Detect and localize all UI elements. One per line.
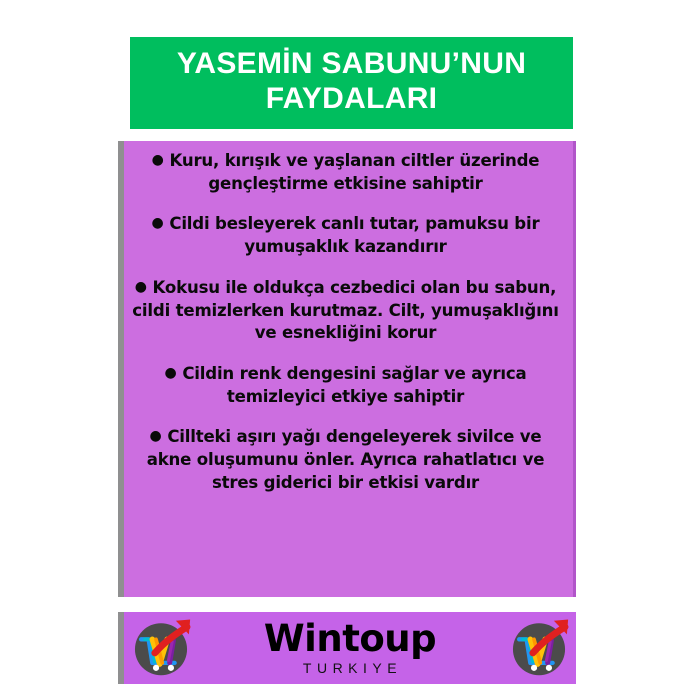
benefit-list-item: ● Cildi besleyerek canlı tutar, pamuksu …: [132, 213, 559, 258]
bullet-icon: ●: [152, 152, 164, 168]
benefit-text: Kokusu ile oldukça cezbedici olan bu sab…: [132, 278, 558, 342]
benefit-list-item: ● Cillteki aşırı yağı dengeleyerek sivil…: [132, 426, 559, 494]
page-title: YASEMİN SABUNU’NUN FAYDALARI: [177, 46, 526, 117]
benefit-text: Cildin renk dengesini sağlar ve ayrıca t…: [182, 364, 526, 406]
brand-subtitle: TURKIYE: [192, 661, 508, 675]
bullet-icon: ●: [165, 365, 177, 381]
benefits-panel: ● Kuru, kırışık ve yaşlanan ciltler üzer…: [118, 141, 576, 597]
wintoup-cart-logo-icon-left: [130, 617, 192, 679]
benefit-list-item: ● Kokusu ile oldukça cezbedici olan bu s…: [132, 277, 559, 345]
bullet-icon: ●: [135, 279, 147, 295]
bullet-icon: ●: [152, 215, 164, 231]
brand-name: Wintoup: [192, 620, 508, 657]
footer-brand-bar: Wintoup TURKIYE: [118, 612, 576, 684]
product-benefits-poster: YASEMİN SABUNU’NUN FAYDALARI ● Kuru, kır…: [0, 0, 700, 700]
bullet-icon: ●: [150, 428, 162, 444]
header-banner: YASEMİN SABUNU’NUN FAYDALARI: [130, 37, 573, 129]
benefit-list-item: ● Cildin renk dengesini sağlar ve ayrıca…: [132, 363, 559, 408]
benefit-list-item: ● Kuru, kırışık ve yaşlanan ciltler üzer…: [132, 150, 559, 195]
wintoup-cart-logo-icon-right: [508, 617, 570, 679]
benefit-text: Cildi besleyerek canlı tutar, pamuksu bi…: [169, 214, 539, 256]
brand-text-block: Wintoup TURKIYE: [192, 620, 508, 677]
benefit-text: Cillteki aşırı yağı dengeleyerek sivilce…: [147, 427, 545, 491]
benefit-text: Kuru, kırışık ve yaşlanan ciltler üzerin…: [169, 151, 539, 193]
